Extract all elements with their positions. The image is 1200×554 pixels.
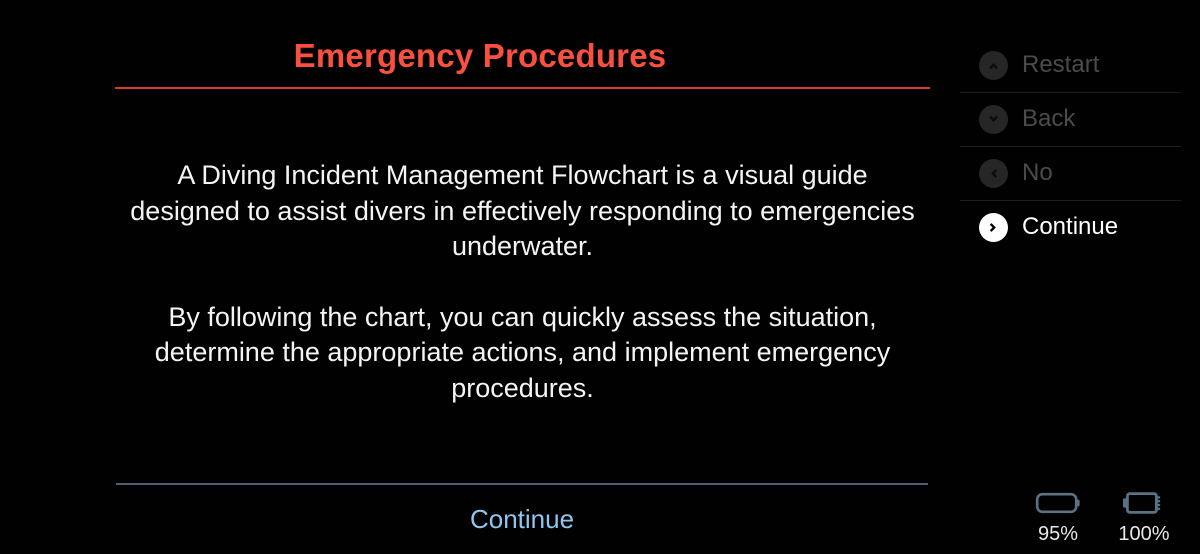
chevron-right-circle-icon — [979, 213, 1008, 242]
status-gauges: 95% 100% — [1026, 488, 1176, 546]
chevron-up-circle-icon — [979, 51, 1008, 80]
tank-percent-label: 100% — [1112, 522, 1176, 546]
sidebar-item-continue[interactable]: Continue — [979, 200, 1200, 254]
sidebar-item-no[interactable]: No — [979, 146, 1200, 200]
description-paragraph-1: A Diving Incident Management Flowchart i… — [120, 158, 925, 265]
sidebar-nav: Restart Back No — [960, 0, 1200, 554]
gas-tank-icon — [1112, 488, 1176, 518]
sidebar-item-label: Restart — [1022, 51, 1099, 79]
sidebar-item-label: No — [1022, 159, 1053, 187]
footer-continue-button[interactable]: Continue — [116, 500, 928, 538]
battery-icon — [1026, 488, 1090, 518]
sidebar-item-back[interactable]: Back — [979, 92, 1200, 146]
description-text: A Diving Incident Management Flowchart i… — [120, 158, 925, 406]
footer-divider-rule — [116, 483, 928, 485]
app-screen: Emergency Procedures A Diving Incident M… — [0, 0, 1200, 554]
sidebar-item-restart[interactable]: Restart — [979, 38, 1200, 92]
main-content-panel: Emergency Procedures A Diving Incident M… — [0, 0, 960, 554]
sidebar-item-label: Continue — [1022, 213, 1118, 241]
battery-percent-label: 95% — [1026, 522, 1090, 546]
gauge-tank: 100% — [1112, 488, 1176, 546]
page-title: Emergency Procedures — [0, 36, 960, 76]
chevron-left-circle-icon — [979, 159, 1008, 188]
chevron-down-circle-icon — [979, 105, 1008, 134]
gauge-battery: 95% — [1026, 488, 1090, 546]
title-underline-rule — [115, 87, 930, 89]
description-paragraph-2: By following the chart, you can quickly … — [120, 300, 925, 407]
sidebar-item-label: Back — [1022, 105, 1075, 133]
